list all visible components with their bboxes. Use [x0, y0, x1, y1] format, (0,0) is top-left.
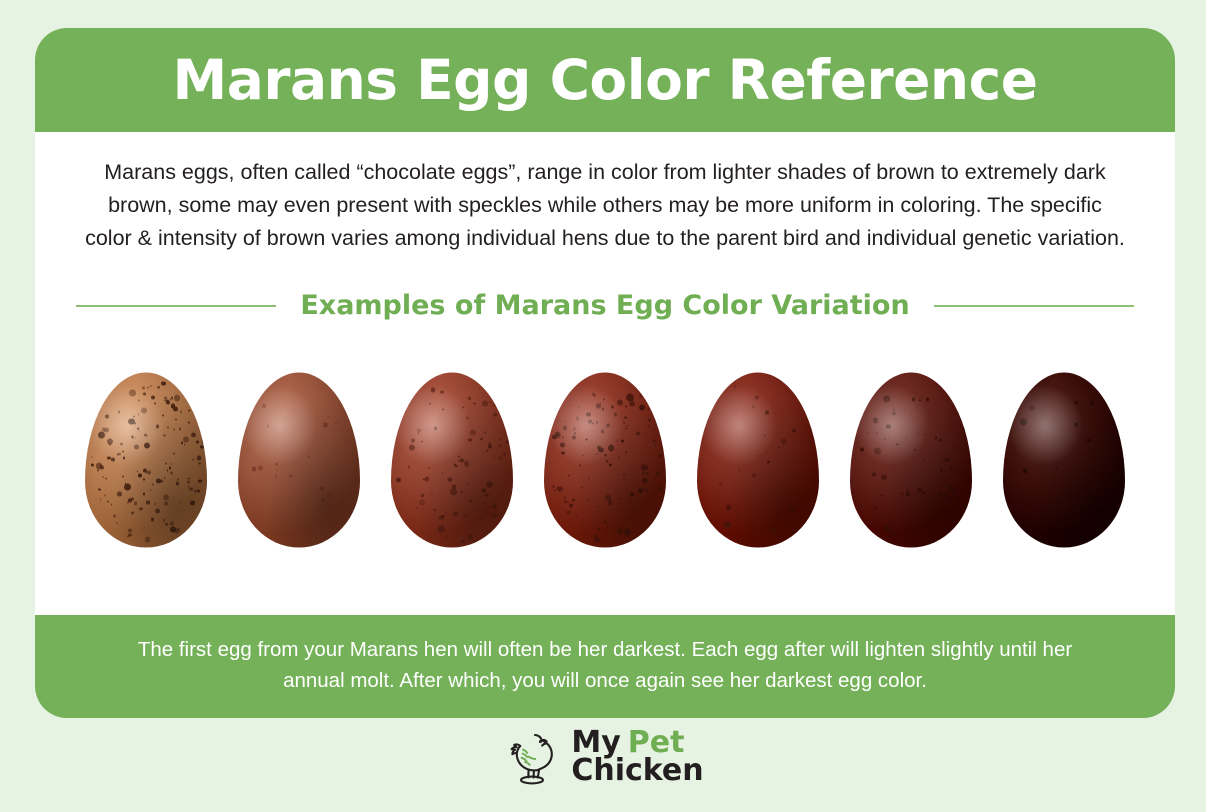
- egg-shading-overlay: [238, 373, 360, 548]
- note-body-text: The first egg from your Marans hen will …: [115, 634, 1095, 696]
- divider-rule-left: [76, 305, 276, 307]
- egg-1-lightest-speckled: [83, 365, 209, 555]
- egg-shading-overlay: [850, 373, 972, 548]
- egg-4-dark-speckled: [542, 365, 668, 555]
- logo-word-chicken: Chicken: [571, 757, 703, 785]
- logo-wordmark: My Pet Chicken: [571, 729, 703, 784]
- egg-shape: [391, 373, 513, 548]
- egg-shading-overlay: [391, 373, 513, 548]
- egg-shape: [697, 373, 819, 548]
- egg-5-dark-uniform: [695, 365, 821, 555]
- egg-shape: [1003, 373, 1125, 548]
- section-heading-row: Examples of Marans Egg Color Variation: [55, 290, 1155, 321]
- egg-7-darkest-chocolate: [1001, 365, 1127, 555]
- egg-shading-overlay: [544, 373, 666, 548]
- egg-color-swatch-row: [83, 360, 1127, 560]
- infographic-page: Marans Egg Color Reference Marans eggs, …: [0, 0, 1206, 812]
- page-title: Marans Egg Color Reference: [172, 48, 1037, 112]
- brand-logo: My Pet Chicken: [0, 726, 1206, 788]
- egg-shape: [544, 373, 666, 548]
- header-band: Marans Egg Color Reference: [35, 28, 1175, 132]
- note-heading: Note:: [35, 568, 1175, 614]
- egg-shape: [238, 373, 360, 548]
- egg-6-very-dark: [848, 365, 974, 555]
- egg-shading-overlay: [1003, 373, 1125, 548]
- egg-3-medium-speckled: [389, 365, 515, 555]
- egg-shading-overlay: [85, 373, 207, 548]
- section-title: Examples of Marans Egg Color Variation: [300, 290, 909, 321]
- chicken-logo-icon: [502, 726, 564, 788]
- divider-rule-right: [934, 305, 1134, 307]
- egg-shading-overlay: [697, 373, 819, 548]
- intro-paragraph: Marans eggs, often called “chocolate egg…: [85, 156, 1125, 255]
- egg-shape: [850, 373, 972, 548]
- infographic-card: Marans Egg Color Reference Marans eggs, …: [35, 28, 1175, 718]
- egg-2-medium-brown: [236, 365, 362, 555]
- egg-shape: [85, 373, 207, 548]
